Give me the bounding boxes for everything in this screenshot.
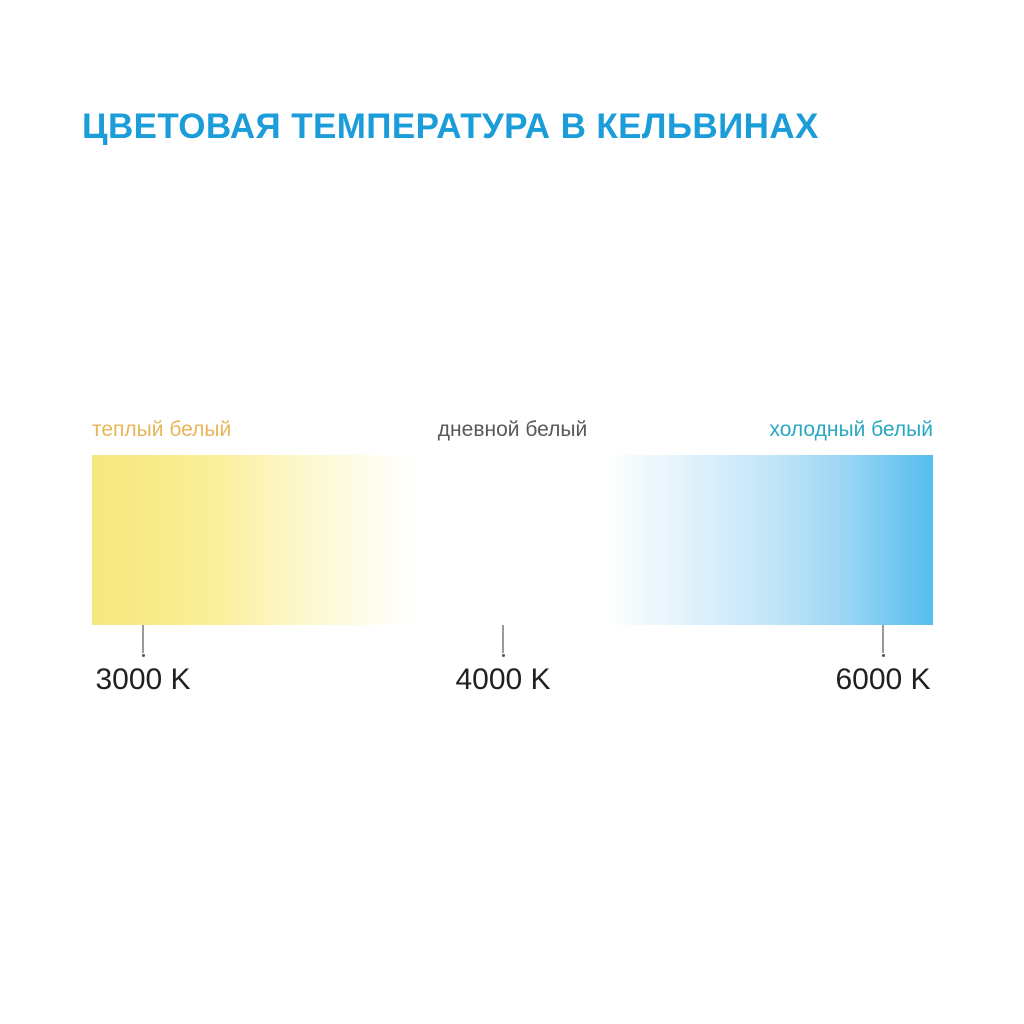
category-labels-row: теплый белый дневной белый холодный белы… [92,416,933,444]
label-cool-white: холодный белый [769,416,933,444]
tick-label-3000k: 3000 K [83,663,203,697]
tick-line-icon [142,625,144,653]
tick-line-icon [502,625,504,653]
tick-6000k: 6000 K [823,625,943,697]
tick-3000k: 3000 K [83,625,203,697]
kelvin-scale-ticks: 3000 K 4000 K 6000 K [0,625,1024,705]
page-title: ЦВЕТОВАЯ ТЕМПЕРАТУРА В КЕЛЬВИНАХ [82,106,942,148]
tick-dot-icon [142,654,145,657]
color-temperature-infographic: ЦВЕТОВАЯ ТЕМПЕРАТУРА В КЕЛЬВИНАХ теплый … [0,0,1024,1024]
gradient-bar-warm-white [92,455,425,625]
tick-4000k: 4000 K [443,625,563,697]
tick-line-icon [882,625,884,653]
tick-dot-icon [502,654,505,657]
color-temperature-gradient-scale [92,455,933,625]
tick-label-4000k: 4000 K [443,663,563,697]
tick-dot-icon [882,654,885,657]
gradient-bar-cool-white [605,455,933,625]
tick-label-6000k: 6000 K [823,663,943,697]
